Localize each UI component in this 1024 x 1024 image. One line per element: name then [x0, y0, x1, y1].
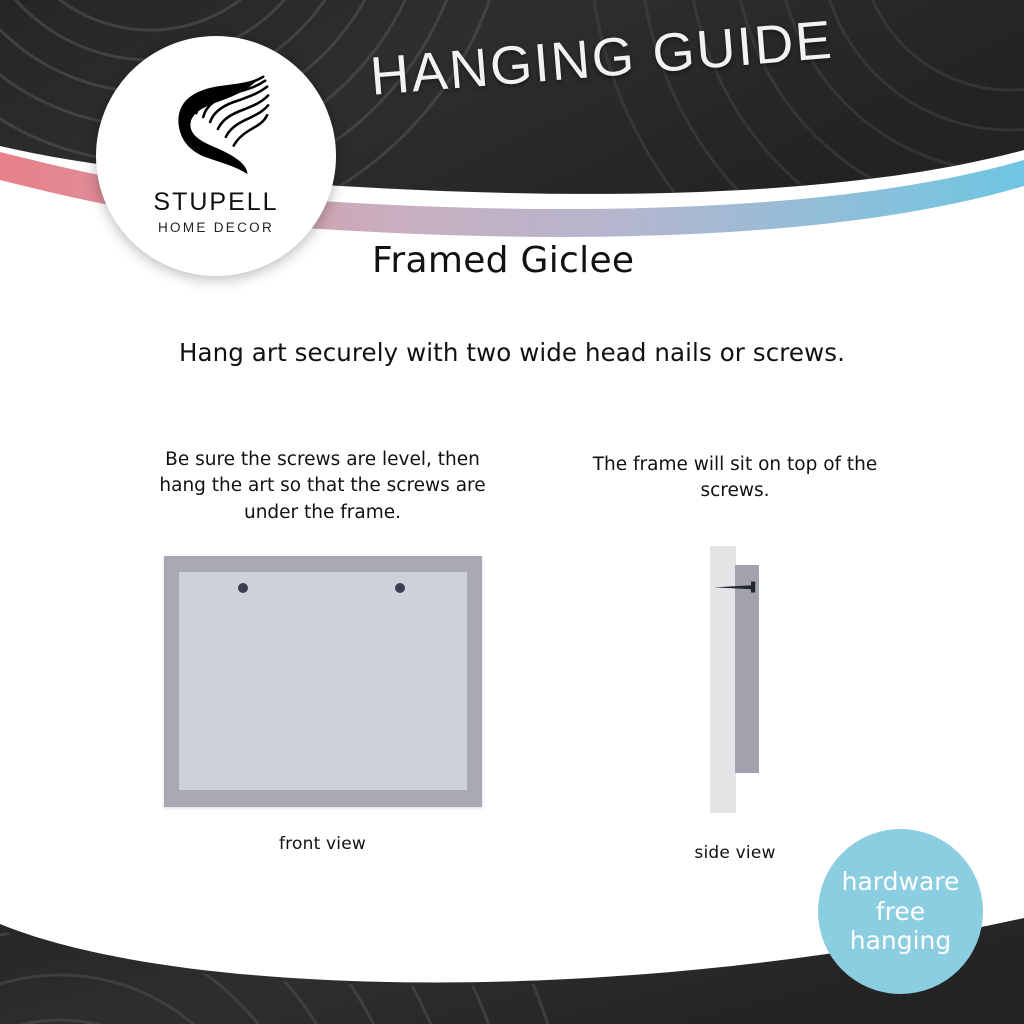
hardware-free-hanging-badge: hardware free hanging	[818, 829, 983, 994]
logo-tagline: HOME DECOR	[158, 221, 274, 235]
stupell-s-swoosh-logo-icon	[157, 64, 275, 184]
product-subtitle: Framed Giclee	[372, 240, 634, 281]
badge-line-3: hanging	[850, 926, 952, 956]
front-view-art-panel	[179, 572, 467, 790]
badge-line-1: hardware	[842, 867, 960, 897]
screw-dot-left	[238, 583, 248, 593]
side-view-caption: The frame will sit on top of the screws.	[580, 452, 890, 505]
brand-logo-badge: STUPELL HOME DECOR	[96, 36, 336, 276]
front-view-caption: Be sure the screws are level, then hang …	[150, 447, 495, 526]
side-view-frame	[735, 565, 759, 773]
screw-dot-right	[395, 583, 405, 593]
badge-line-2: free	[876, 897, 925, 927]
front-view-label: front view	[180, 834, 465, 854]
side-view-label: side view	[620, 843, 850, 863]
front-view-diagram	[164, 556, 482, 807]
logo-wordmark: STUPELL	[153, 190, 278, 215]
lead-instruction: Hang art securely with two wide head nai…	[0, 338, 1024, 367]
hanging-guide-page: STUPELL HOME DECOR HANGING GUIDE Framed …	[0, 0, 1024, 1024]
page-title: HANGING GUIDE	[368, 9, 836, 108]
nail-pointing-left-icon	[712, 580, 762, 594]
